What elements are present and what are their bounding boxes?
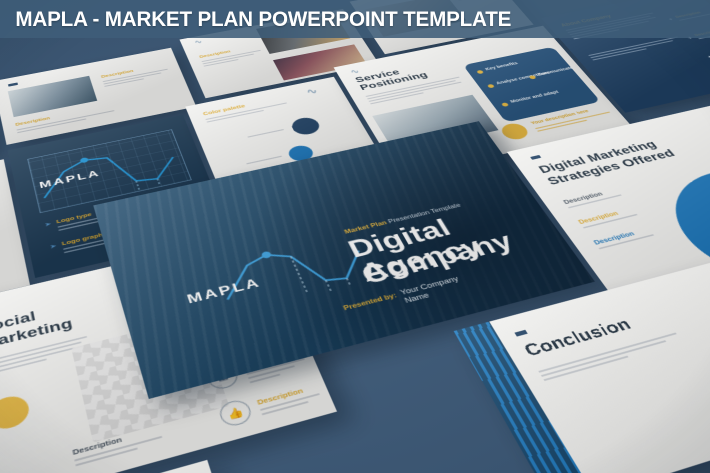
palette-swatch-navy <box>289 116 323 137</box>
step-number-badge <box>498 122 532 142</box>
hero-presented-label: Presented by: <box>342 292 398 312</box>
item-body <box>74 436 164 469</box>
slide-photo <box>8 76 97 117</box>
arrow-icon: ➤ <box>49 243 57 250</box>
mockup-canvas: Description Description Description <box>0 0 710 473</box>
slide-body <box>538 333 684 384</box>
slide-tick-mark <box>514 330 527 337</box>
title-banner: MAPLA - MARKET PLAN POWERPOINT TEMPLATE <box>0 0 710 38</box>
arrow-icon: ➤ <box>44 221 52 228</box>
description-body <box>103 69 171 89</box>
step-number-badge <box>0 392 31 432</box>
slide-body <box>588 37 684 62</box>
item-body <box>260 393 323 418</box>
line-chart-graphic <box>27 129 192 213</box>
hero-company-line2: Name <box>403 283 465 306</box>
item-label: Description <box>256 387 304 407</box>
wave-logo-mark: ∿ <box>349 68 360 75</box>
slide-title-line1: Social <box>0 309 37 337</box>
item-label: Description <box>72 435 123 457</box>
pie-chart-svg <box>643 155 710 296</box>
hero-presented-value: Your Company Name <box>399 275 466 306</box>
page-title: MAPLA - MARKET PLAN POWERPOINT TEMPLATE <box>0 7 511 32</box>
thumbs-up-icon: 👍 <box>217 398 254 429</box>
hero-company-line1: Your Company <box>399 275 461 298</box>
slide-body <box>0 336 91 378</box>
slide-title-line2: Marketing <box>0 316 74 353</box>
pie-chart: Layer 1 Layer 2 Layer 3 <box>643 155 710 296</box>
sparkle-icon: ✦ <box>706 55 710 60</box>
wave-logo-mark: ∿ <box>194 39 204 45</box>
palette-swatch-label <box>247 129 285 139</box>
decorative-stripes <box>454 314 596 473</box>
slide-grid-plane: Description Description Description <box>0 0 710 473</box>
slide-title: Conclusion <box>521 316 635 361</box>
slide-tick-mark <box>530 155 541 160</box>
wave-logo-mark: ∿ <box>305 87 319 96</box>
slide-tick-mark <box>8 82 18 86</box>
